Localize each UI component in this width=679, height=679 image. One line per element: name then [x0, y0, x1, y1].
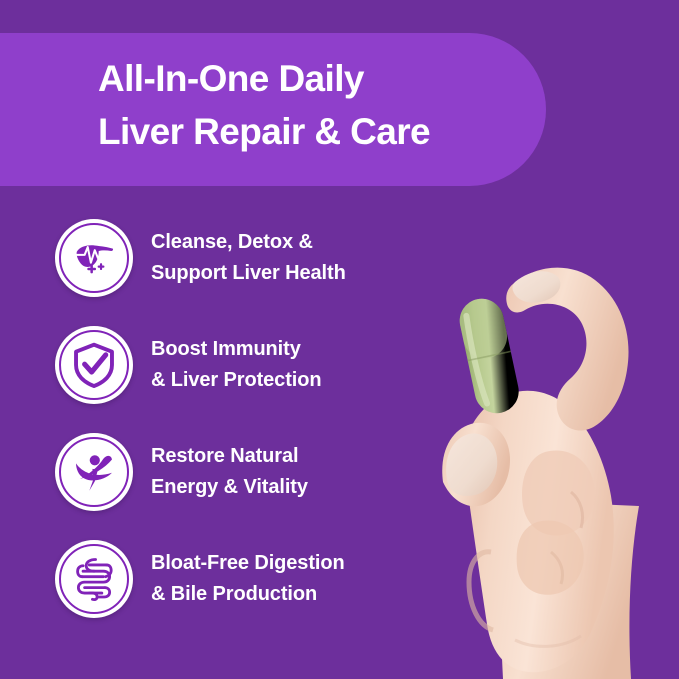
feature-text: Bloat-Free Digestion & Bile Production [151, 548, 345, 610]
page-title: All-In-One Daily Liver Repair & Care [98, 52, 538, 158]
icon-badge [55, 219, 133, 297]
feature-text: Cleanse, Detox & Support Liver Health [151, 227, 346, 289]
feature-item-energy: Restore Natural Energy & Vitality [55, 432, 425, 512]
vitality-person-icon [69, 447, 119, 497]
feature-item-liver: Cleanse, Detox & Support Liver Health [55, 218, 425, 298]
intestine-icon [69, 554, 119, 604]
feature-line-2: & Bile Production [151, 579, 345, 610]
feature-item-immunity: Boost Immunity & Liver Protection [55, 325, 425, 405]
feature-list: Cleanse, Detox & Support Liver Health Bo… [55, 218, 425, 619]
title-line-1: All-In-One Daily [98, 52, 538, 105]
liver-pulse-icon [69, 233, 119, 283]
feature-text: Boost Immunity & Liver Protection [151, 334, 321, 396]
icon-badge [55, 326, 133, 404]
feature-line-2: Energy & Vitality [151, 472, 308, 503]
feature-item-digestion: Bloat-Free Digestion & Bile Production [55, 539, 425, 619]
feature-text: Restore Natural Energy & Vitality [151, 441, 308, 503]
feature-line-2: Support Liver Health [151, 258, 346, 289]
icon-badge [55, 540, 133, 618]
feature-line-1: Restore Natural [151, 441, 308, 472]
hand-holding-capsule-image [395, 200, 679, 679]
product-feature-poster: All-In-One Daily Liver Repair & Care Cle… [0, 0, 679, 679]
feature-line-1: Bloat-Free Digestion [151, 548, 345, 579]
hand-illustration [395, 200, 679, 679]
icon-badge [55, 433, 133, 511]
feature-line-1: Cleanse, Detox & [151, 227, 346, 258]
green-capsule [456, 295, 523, 418]
title-line-2: Liver Repair & Care [98, 105, 538, 158]
feature-line-1: Boost Immunity [151, 334, 321, 365]
feature-line-2: & Liver Protection [151, 365, 321, 396]
shield-check-icon [69, 340, 119, 390]
